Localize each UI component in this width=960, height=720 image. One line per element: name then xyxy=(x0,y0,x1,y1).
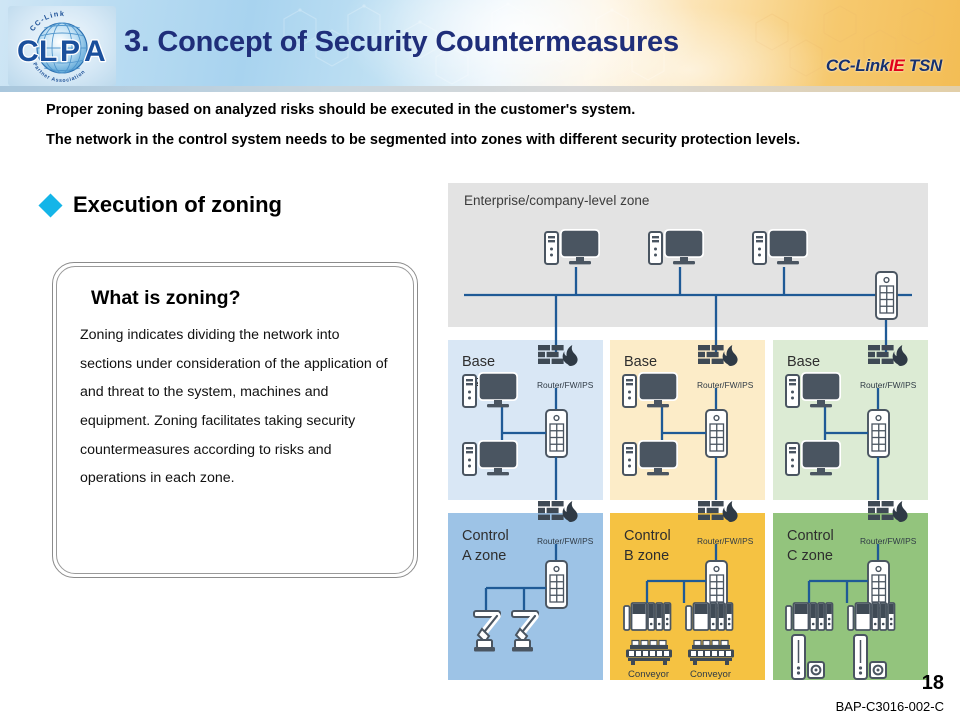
brand-ie: IE xyxy=(889,56,904,75)
control-c-label-line2: C zone xyxy=(787,548,833,564)
control-b-zone: Control B zone Router/FW/IPS Conveyor Co… xyxy=(610,501,765,680)
base-b-router-label: Router/FW/IPS xyxy=(697,380,754,390)
base-b-switch xyxy=(706,410,727,457)
control-b-label-line1: Control xyxy=(624,528,671,544)
execution-of-zoning-heading: Execution of zoning xyxy=(42,192,282,218)
lead-paragraph-2: The network in the control system needs … xyxy=(46,130,866,150)
control-b-plc-2 xyxy=(686,603,733,630)
base-a-zone: Base A zone Router/FW/IPS xyxy=(448,327,603,500)
control-c-switch xyxy=(868,561,889,608)
svg-text:A: A xyxy=(84,35,106,68)
svg-text:C: C xyxy=(17,35,39,68)
base-c-switch xyxy=(868,410,889,457)
control-b-conveyor-label-1: Conveyor xyxy=(628,669,670,680)
brand-tsn: TSN xyxy=(909,56,942,75)
base-a-router-label: Router/FW/IPS xyxy=(537,380,594,390)
cc-link-ie-tsn-logo: CC-LinkIE TSN xyxy=(826,56,942,76)
base-c-label-line1: Base xyxy=(787,354,820,370)
control-c-router-label: Router/FW/IPS xyxy=(860,536,917,546)
base-a-label-line1: Base xyxy=(462,354,495,370)
control-a-label-line1: Control xyxy=(462,528,509,544)
document-id: BAP-C3016-002-C xyxy=(836,699,944,714)
page-number: 18 xyxy=(922,672,944,695)
base-c-firewall-icon xyxy=(868,345,908,366)
enterprise-switch xyxy=(876,272,897,319)
execution-of-zoning-label: Execution of zoning xyxy=(73,192,282,218)
control-a-firewall-icon xyxy=(538,501,578,522)
control-b-firewall-icon xyxy=(698,501,738,522)
diamond-bullet-icon xyxy=(38,193,62,217)
control-a-zone: Control A zone Router/FW/IPS xyxy=(448,501,603,680)
control-c-zone: Control C zone Router/FW/IPS xyxy=(773,501,928,680)
control-b-switch xyxy=(706,561,727,608)
svg-text:P: P xyxy=(60,35,80,68)
base-b-label-line1: Base xyxy=(624,354,657,370)
clpa-logo: CC-Link Partner Association C L P A xyxy=(8,6,116,86)
control-c-plc-1 xyxy=(786,603,833,630)
callout-title: What is zoning? xyxy=(91,287,240,310)
slide-header: CC-Link Partner Association C L P A 3. C… xyxy=(0,0,960,92)
zoning-network-diagram: Enterprise/company-level zone xyxy=(448,183,928,680)
control-c-firewall-icon xyxy=(868,501,908,522)
enterprise-zone-label: Enterprise/company-level zone xyxy=(464,193,649,208)
control-b-label-line2: B zone xyxy=(624,548,669,564)
lead-paragraph-1: Proper zoning based on analyzed risks sh… xyxy=(46,101,916,121)
control-b-conveyor-label-2: Conveyor xyxy=(690,669,732,680)
control-a-label-line2: A zone xyxy=(462,548,506,564)
svg-text:L: L xyxy=(39,35,57,68)
base-a-firewall-icon xyxy=(538,345,578,366)
clpa-logo-icon: CC-Link Partner Association C L P A xyxy=(8,6,116,86)
base-b-firewall-icon xyxy=(698,345,738,366)
control-a-router-label: Router/FW/IPS xyxy=(537,536,594,546)
page-title: 3. Concept of Security Countermeasures xyxy=(124,23,679,59)
slide: CC-Link Partner Association C L P A 3. C… xyxy=(0,0,960,720)
what-is-zoning-callout: What is zoning? Zoning indicates dividin… xyxy=(52,262,418,578)
base-c-router-label: Router/FW/IPS xyxy=(860,380,917,390)
callout-paragraph: Zoning indicates dividing the network in… xyxy=(80,321,395,493)
control-c-plc-2 xyxy=(848,603,895,630)
base-a-switch xyxy=(546,410,567,457)
base-b-zone: Base B zone Router/FW/IPS xyxy=(610,327,765,500)
title-number: 3. xyxy=(124,23,149,58)
control-c-label-line1: Control xyxy=(787,528,834,544)
enterprise-zone: Enterprise/company-level zone xyxy=(448,183,928,327)
title-text: Concept of Security Countermeasures xyxy=(157,26,679,58)
brand-cclink: CC-Link xyxy=(826,56,889,75)
control-a-switch xyxy=(546,561,567,608)
control-b-router-label: Router/FW/IPS xyxy=(697,536,754,546)
base-c-zone: Base C zone Router/FW/IPS xyxy=(773,327,928,500)
control-b-plc-1 xyxy=(624,603,671,630)
